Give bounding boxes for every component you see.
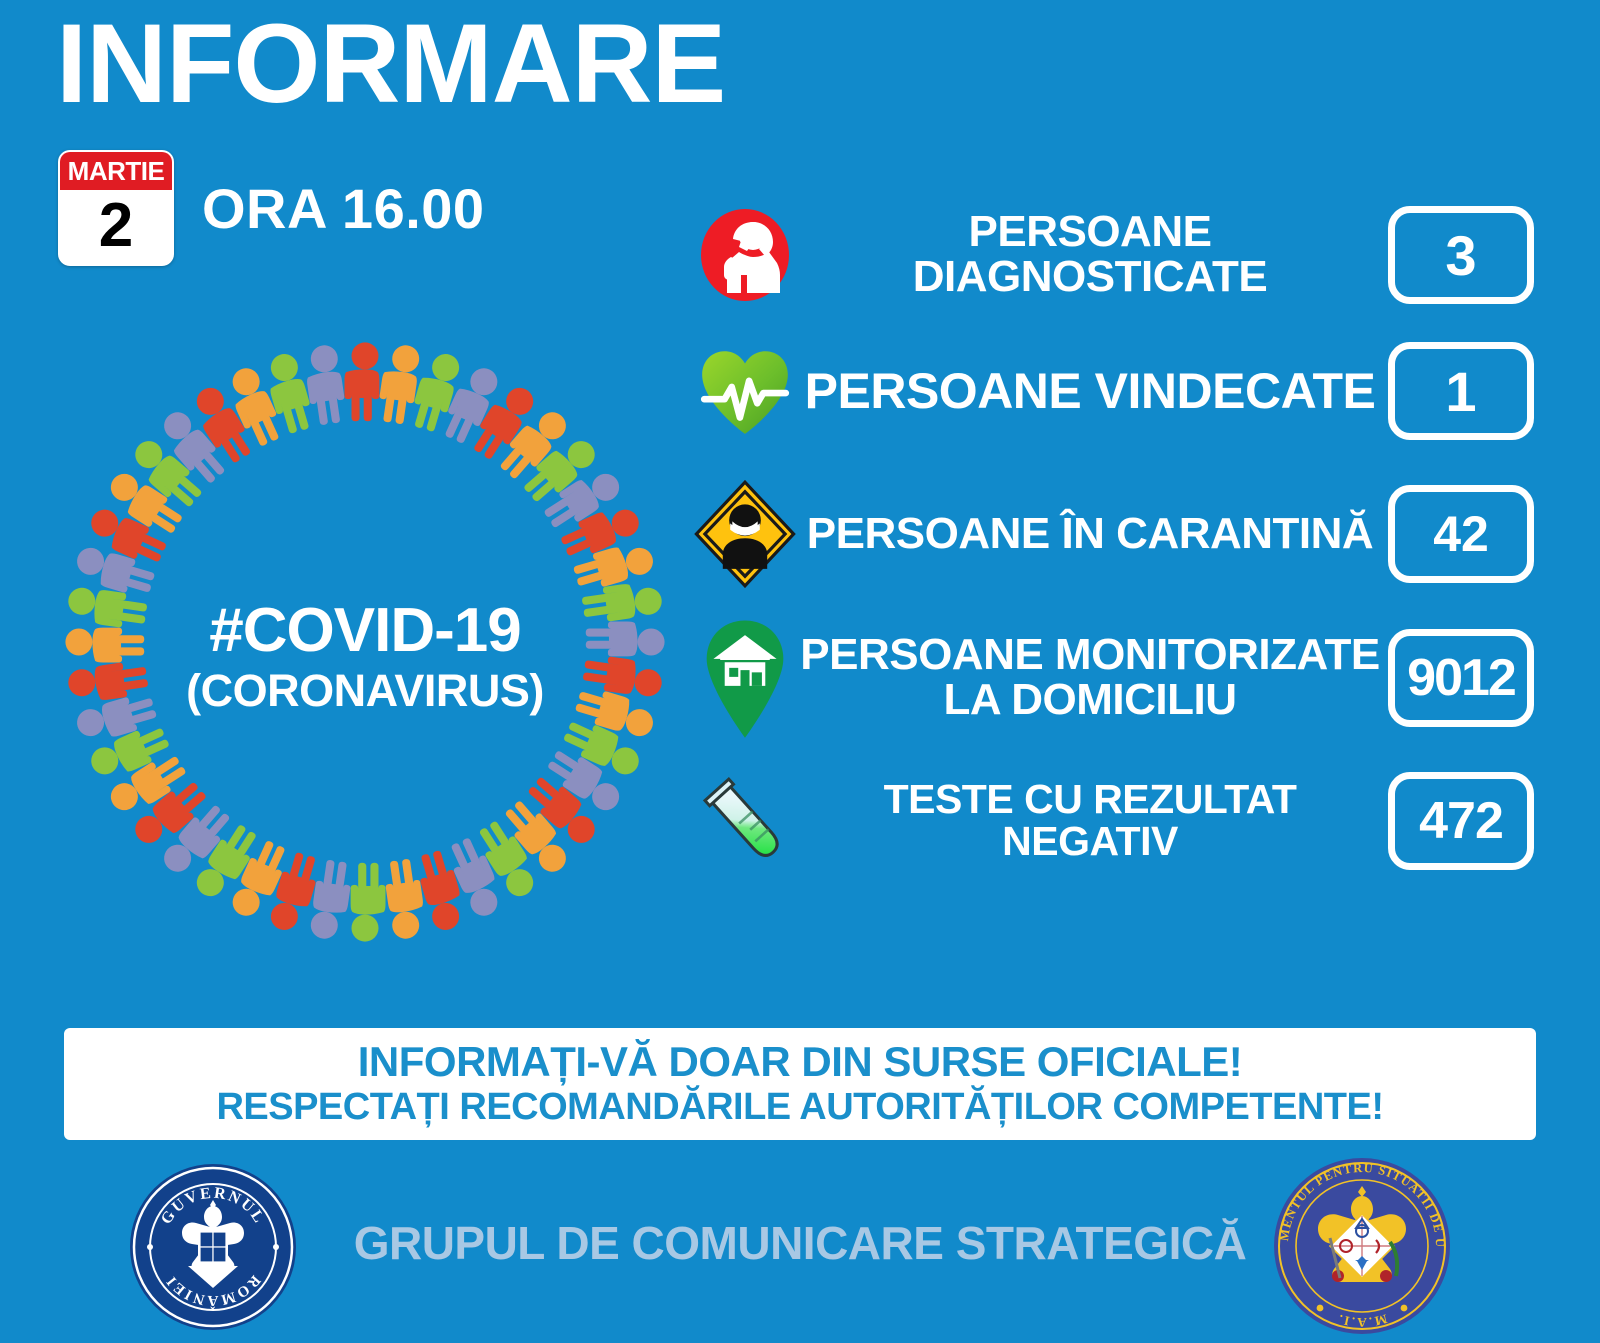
stat-value-diagnosticate: 3: [1388, 206, 1534, 304]
person-figure: [382, 858, 428, 941]
person-figure: [344, 342, 379, 421]
masked-person-warning-icon: [690, 479, 800, 589]
calendar-month: MARTIE: [60, 152, 172, 190]
infographic-canvas: INFORMARE MARTIE 2 ORA 16.00 #COVID-19 (…: [0, 0, 1600, 1343]
stat-label: PERSOANE VINDECATE: [800, 366, 1380, 417]
person-figure: [376, 343, 422, 426]
person-figure: [302, 343, 348, 426]
people-circle-graphic: #COVID-19 (CORONAVIRUS): [55, 330, 675, 960]
hour-label: ORA 16.00: [202, 176, 485, 241]
covid-hashtag: #COVID-19: [55, 598, 675, 663]
official-sources-banner: INFORMAȚI-VĂ DOAR DIN SURSE OFICIALE! RE…: [64, 1028, 1536, 1140]
stat-value-vindecate: 1: [1388, 342, 1534, 440]
stat-row-diagnosticate: PERSOANE DIAGNOSTICATE 3: [690, 196, 1560, 314]
stat-row-carantina: PERSOANE ÎN CARANTINĂ 42: [690, 472, 1560, 596]
stat-row-vindecate: PERSOANE VINDECATE 1: [690, 332, 1560, 450]
coughing-person-icon: [690, 200, 800, 310]
stat-value-teste: 472: [1388, 772, 1534, 870]
stat-label-line2: LA DOMICILIU: [944, 675, 1237, 724]
banner-line-1: INFORMAȚI-VĂ DOAR DIN SURSE OFICIALE!: [358, 1040, 1242, 1084]
person-figure: [308, 858, 354, 941]
heart-pulse-icon: [690, 336, 800, 446]
stat-label: TESTE CU REZULTAT NEGATIV: [800, 779, 1380, 863]
stat-row-teste: TESTE CU REZULTAT NEGATIV 472: [690, 762, 1560, 880]
date-row: MARTIE 2 ORA 16.00: [58, 150, 485, 266]
footer: GUVERNUL ROMÂNIEI GRUPUL DE COMUNICARE S…: [0, 1150, 1600, 1343]
stat-label: PERSOANE ÎN CARANTINĂ: [800, 512, 1380, 557]
stat-value-carantina: 42: [1388, 485, 1534, 583]
stat-row-monitorizate: PERSOANE MONITORIZATE LA DOMICILIU 9012: [690, 610, 1560, 746]
covid-subtitle: (CORONAVIRUS): [55, 665, 675, 717]
dsu-emblem: DEPARTAMENTUL PENTRU SITUATII DE URGENTA…: [1272, 1156, 1452, 1336]
home-pin-icon: [690, 623, 800, 733]
page-title: INFORMARE: [56, 2, 725, 125]
stat-label-line1: PERSOANE MONITORIZATE: [800, 630, 1379, 679]
stat-value-monitorizate: 9012: [1388, 629, 1534, 727]
stat-label: PERSOANE DIAGNOSTICATE: [800, 210, 1380, 300]
banner-line-2: RESPECTAȚI RECOMANDĂRILE AUTORITĂȚILOR C…: [216, 1088, 1383, 1128]
calendar-day: 2: [60, 190, 172, 264]
stat-label: PERSOANE MONITORIZATE LA DOMICILIU: [800, 633, 1380, 723]
person-figure: [351, 863, 386, 942]
calendar-icon: MARTIE 2: [58, 150, 174, 266]
test-tube-icon: [690, 766, 800, 876]
covid-label-block: #COVID-19 (CORONAVIRUS): [55, 598, 675, 717]
